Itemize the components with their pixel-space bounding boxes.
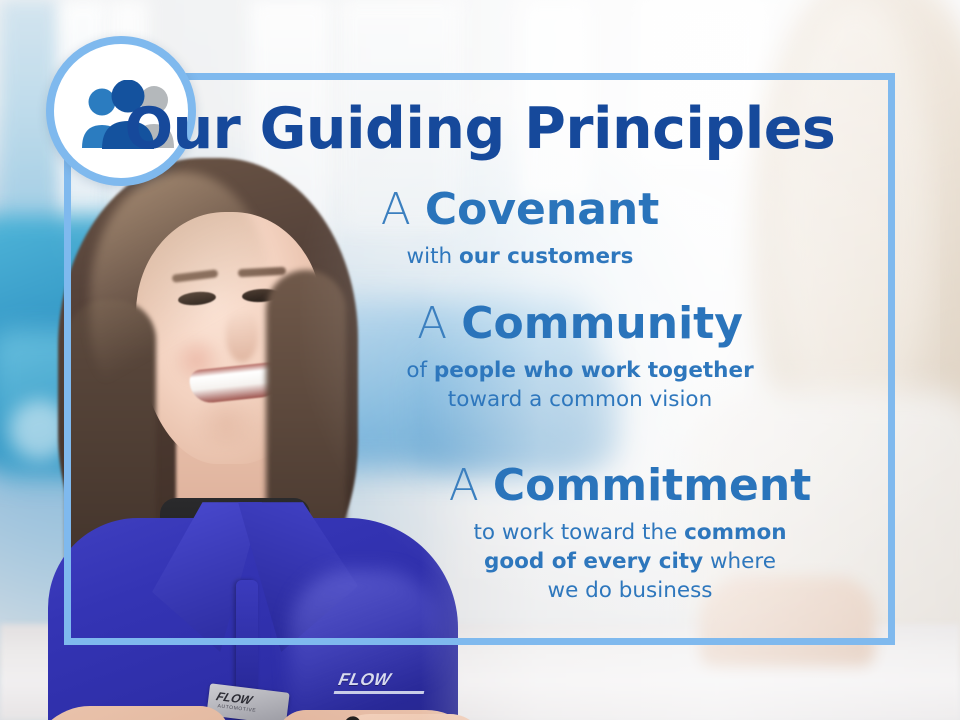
principle-article: A (449, 460, 479, 511)
principle-word: Community (461, 298, 743, 349)
principle-subtext: with our customers (250, 242, 790, 271)
principle-heading: A Commitment (330, 462, 930, 510)
principle-heading: A Covenant (250, 186, 790, 234)
principle-subtext: to work toward the commongood of every c… (330, 518, 930, 606)
principle-subtext-line: to work toward the common (330, 518, 930, 547)
principle-word: Commitment (493, 460, 811, 511)
principle-article: A (381, 184, 411, 235)
flow-chest-logo: FLOW (335, 670, 427, 696)
name-badge-subtext: AUTOMOTIVE (217, 703, 256, 714)
page-title: Our Guiding Principles (0, 96, 960, 162)
principle-block-commitment: A Commitment to work toward the commongo… (330, 462, 930, 605)
flow-chest-logo-text: FLOW (337, 670, 393, 689)
principle-subtext-line: we do business (330, 576, 930, 605)
principle-subtext-line: with our customers (250, 242, 790, 271)
principle-block-covenant: A Covenant with our customers (250, 186, 790, 271)
principle-subtext-line: good of every city where (330, 547, 930, 576)
principle-subtext-line: of people who work together (300, 356, 860, 385)
guiding-principles-graphic: FLOW FLOW AUTOMOTIVE Our Guiding (0, 0, 960, 720)
principle-word: Covenant (425, 184, 659, 235)
principle-subtext: of people who work togethertoward a comm… (300, 356, 860, 414)
flow-logo-underline (334, 691, 425, 694)
principle-article: A (417, 298, 447, 349)
principle-subtext-line: toward a common vision (300, 385, 860, 414)
principle-block-community: A Community of people who work togethert… (300, 300, 860, 414)
principle-heading: A Community (300, 300, 860, 348)
